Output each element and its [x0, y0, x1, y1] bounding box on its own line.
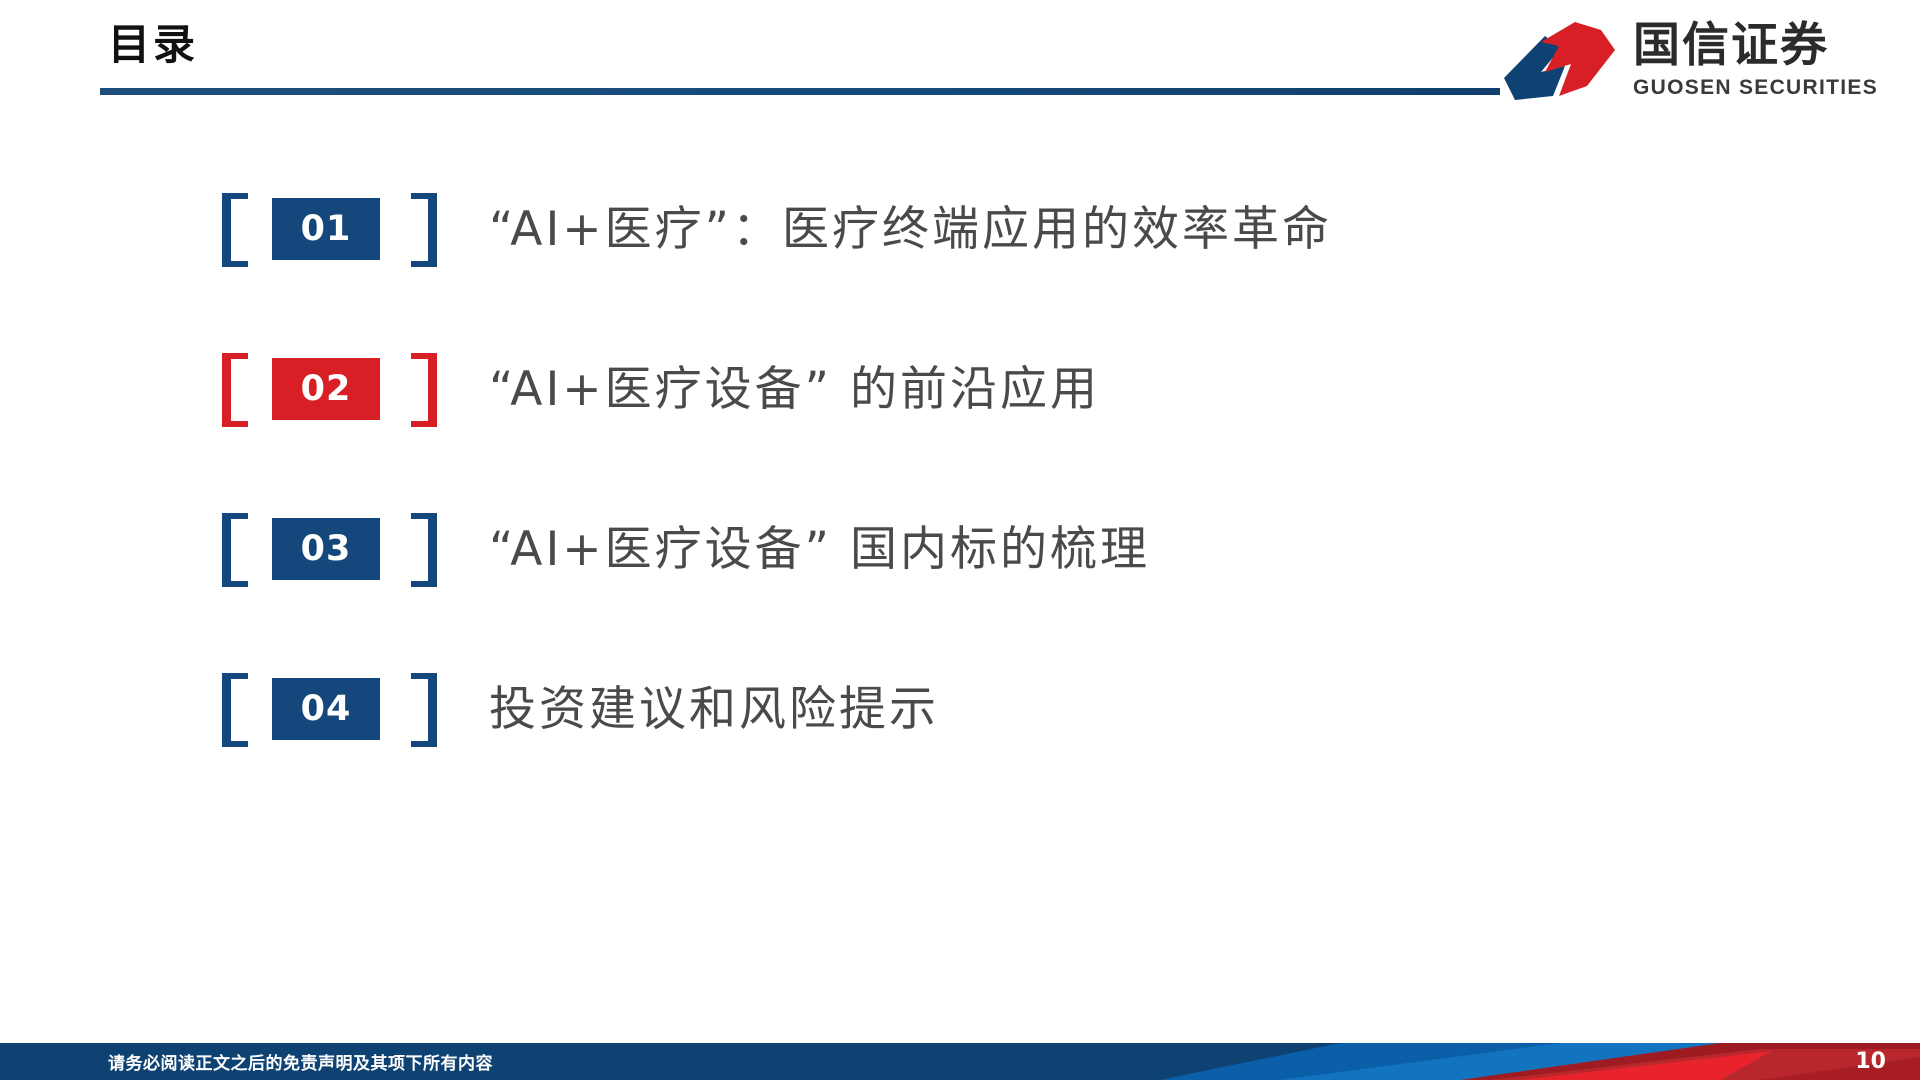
toc-number-badge: 02 [222, 353, 437, 427]
slide-canvas: 目录 国信证券 GUOSEN SECURITIES 01“AI+医疗”：医疗终端… [0, 0, 1920, 1080]
slide-footer: 请务必阅读正文之后的免责声明及其项下所有内容 10 [0, 1043, 1920, 1080]
bracket-right-icon [403, 673, 437, 747]
toc-item-04[interactable]: 04投资建议和风险提示 [0, 630, 1920, 790]
bracket-left-icon [222, 673, 256, 747]
logo-wordmark: 国信证券 GUOSEN SECURITIES [1633, 22, 1878, 98]
footer-decoration-icon [1160, 1043, 1920, 1080]
toc-number-label: 02 [301, 372, 352, 407]
guosen-logo-mark-icon [1501, 16, 1619, 104]
bracket-right-icon [403, 193, 437, 267]
bracket-left-icon [222, 353, 256, 427]
toc-item-label: 投资建议和风险提示 [489, 683, 939, 737]
company-logo: 国信证券 GUOSEN SECURITIES [1501, 16, 1878, 104]
bracket-right-icon [403, 353, 437, 427]
logo-name-cn: 国信证券 [1633, 22, 1878, 69]
bracket-right-icon [403, 513, 437, 587]
toc-number-box: 03 [272, 518, 380, 580]
title-divider-rule [100, 88, 1500, 95]
toc-item-label: “AI+医疗”：医疗终端应用的效率革命 [489, 203, 1332, 257]
toc-item-03[interactable]: 03“AI+医疗设备” 国内标的梳理 [0, 470, 1920, 630]
toc-item-label: “AI+医疗设备” 国内标的梳理 [489, 523, 1150, 577]
page-title: 目录 [108, 22, 198, 68]
slide-header: 目录 国信证券 GUOSEN SECURITIES [0, 0, 1920, 120]
toc-number-label: 04 [301, 692, 352, 727]
toc-item-01[interactable]: 01“AI+医疗”：医疗终端应用的效率革命 [0, 150, 1920, 310]
page-number: 10 [1855, 1043, 1886, 1080]
toc-item-02[interactable]: 02“AI+医疗设备” 的前沿应用 [0, 310, 1920, 470]
toc-list: 01“AI+医疗”：医疗终端应用的效率革命02“AI+医疗设备” 的前沿应用03… [0, 150, 1920, 790]
toc-number-badge: 01 [222, 193, 437, 267]
toc-item-label: “AI+医疗设备” 的前沿应用 [489, 363, 1100, 417]
toc-number-badge: 03 [222, 513, 437, 587]
logo-name-en: GUOSEN SECURITIES [1633, 77, 1878, 98]
bracket-left-icon [222, 513, 256, 587]
footer-disclaimer: 请务必阅读正文之后的免责声明及其项下所有内容 [108, 1043, 493, 1080]
toc-number-label: 01 [301, 212, 352, 247]
toc-number-label: 03 [301, 532, 352, 567]
toc-number-box: 02 [272, 358, 380, 420]
toc-number-box: 04 [272, 678, 380, 740]
toc-number-box: 01 [272, 198, 380, 260]
bracket-left-icon [222, 193, 256, 267]
toc-number-badge: 04 [222, 673, 437, 747]
